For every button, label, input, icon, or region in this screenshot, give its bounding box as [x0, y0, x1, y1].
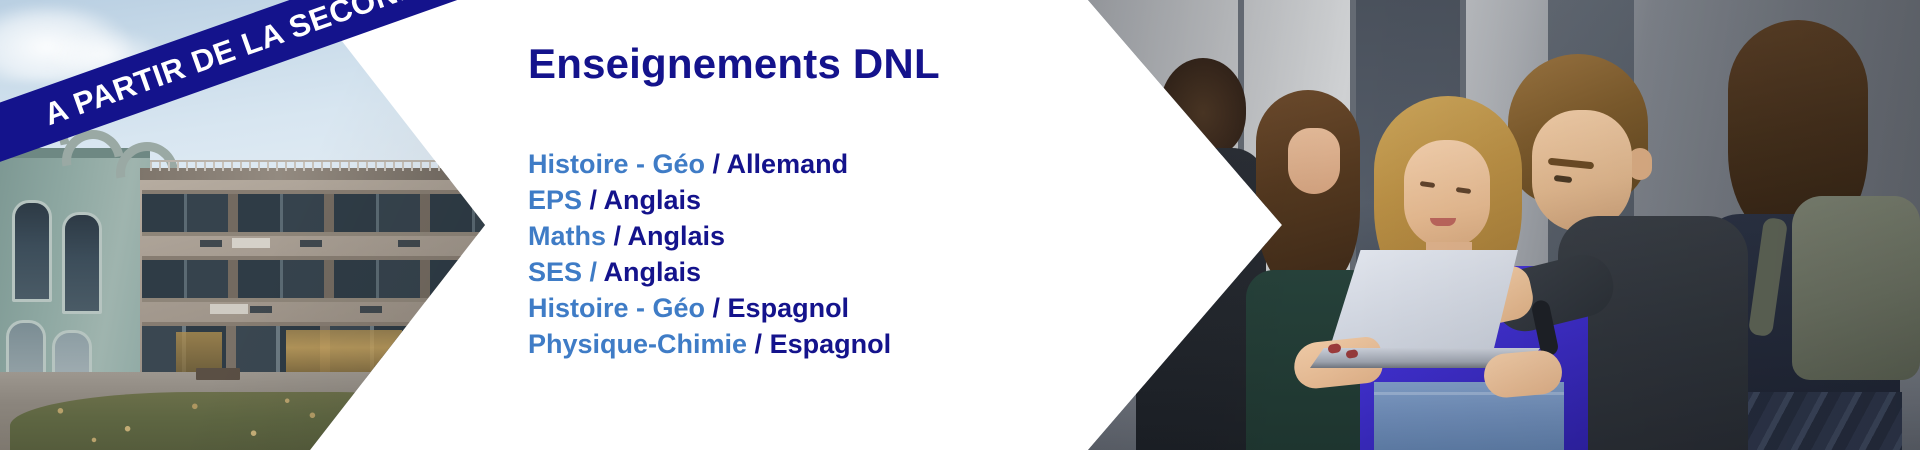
facade-vent — [398, 240, 420, 247]
dnl-subject: Maths — [528, 221, 606, 251]
window-band — [142, 256, 485, 302]
student-face — [1404, 140, 1490, 248]
dnl-list-item: Histoire - Géo / Espagnol — [528, 290, 891, 326]
bench — [196, 368, 240, 380]
student-mouth — [1430, 218, 1456, 226]
dnl-subject: Histoire - Géo — [528, 293, 713, 323]
dnl-language: Espagnol — [728, 293, 850, 323]
page-title: Enseignements DNL — [528, 40, 940, 88]
content-panel: Enseignements DNL Histoire - Géo / Allem… — [528, 0, 1148, 450]
facade-vent — [360, 306, 382, 313]
dnl-language: Espagnol — [770, 329, 892, 359]
dnl-list-item: Physique-Chimie / Espagnol — [528, 326, 891, 362]
dnl-language: Anglais — [604, 185, 702, 215]
dnl-list-item: SES / Anglais — [528, 254, 891, 290]
dnl-separator: / — [606, 221, 628, 251]
dnl-promo-banner: A PARTIR DE LA SECONDE Enseignements DNL… — [0, 0, 1920, 450]
arched-window — [62, 212, 102, 314]
dnl-language: Allemand — [727, 149, 849, 179]
dnl-subject: Physique-Chimie — [528, 329, 747, 359]
dnl-subject: Histoire - Géo — [528, 149, 705, 179]
dnl-course-list: Histoire - Géo / AllemandEPS / AnglaisMa… — [528, 146, 891, 362]
facade-vent — [250, 306, 272, 313]
dnl-language: Anglais — [604, 257, 702, 287]
roof-railing — [150, 160, 485, 171]
dnl-list-item: EPS / Anglais — [528, 182, 891, 218]
students-with-laptop-photo — [1088, 0, 1920, 450]
dnl-list-item: Maths / Anglais — [528, 218, 891, 254]
dnl-subject: EPS — [528, 185, 582, 215]
bench — [388, 366, 422, 376]
student-face — [1532, 110, 1632, 232]
facade-vent — [300, 240, 322, 247]
dnl-language: Anglais — [628, 221, 726, 251]
student-hair — [1160, 58, 1246, 158]
fallen-leaves — [10, 394, 430, 450]
building-entrance — [286, 330, 402, 374]
dnl-separator: / — [747, 329, 770, 359]
dnl-separator: / — [582, 257, 604, 287]
backpack — [1792, 196, 1920, 380]
dnl-separator: / — [582, 185, 604, 215]
dnl-list-item: Histoire - Géo / Allemand — [528, 146, 891, 182]
student-face — [1288, 128, 1340, 194]
arched-window — [12, 200, 52, 302]
dnl-subject: SES — [528, 257, 582, 287]
facade-plaque — [232, 238, 270, 248]
dnl-separator: / — [705, 149, 727, 179]
facade-vent — [200, 240, 222, 247]
facade-plaque — [210, 304, 248, 314]
dnl-separator: / — [713, 293, 728, 323]
window-band — [142, 190, 485, 236]
